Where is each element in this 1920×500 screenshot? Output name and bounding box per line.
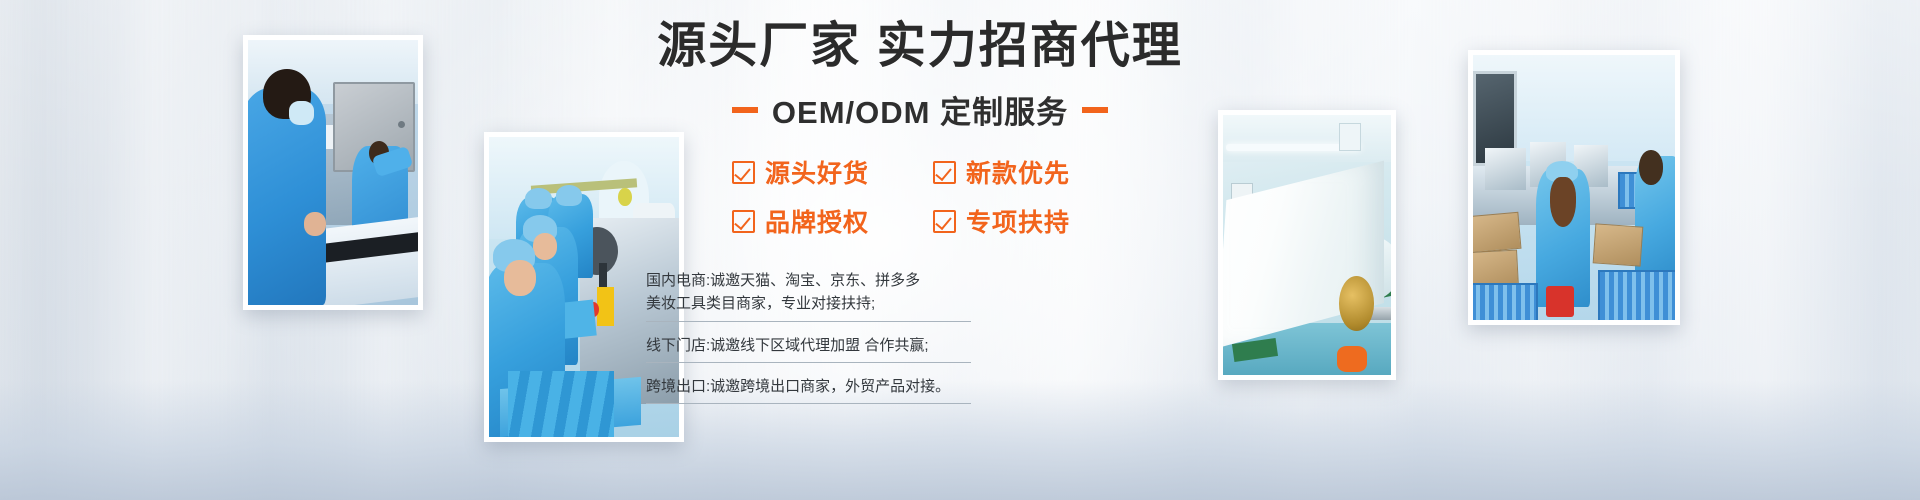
feature-item: 新款优先	[933, 154, 1108, 190]
checkbox-checked-icon	[732, 161, 755, 184]
photo-worker-machine	[243, 35, 423, 310]
dash-icon-right	[1082, 107, 1108, 113]
photo-packing-station-image	[1473, 55, 1675, 320]
detail-row: 国内电商:诚邀天猫、淘宝、京东、拼多多 美妆工具类目商家，专业对接扶持;	[646, 269, 971, 322]
page-title: 源头厂家 实力招商代理	[640, 22, 1200, 71]
feature-list: 源头好货 新款优先 品牌授权 专项扶持	[640, 154, 1200, 239]
detail-line: 国内电商:诚邀天猫、淘宝、京东、拼多多	[646, 269, 971, 292]
feature-item: 品牌授权	[732, 203, 907, 239]
banner-copy: 源头厂家 实力招商代理 OEM/ODM 定制服务 源头好货 新款优先 品牌授权 …	[640, 22, 1200, 404]
checkbox-checked-icon	[933, 161, 956, 184]
feature-item: 专项扶持	[933, 203, 1108, 239]
feature-label: 品牌授权	[765, 203, 869, 239]
detail-list: 国内电商:诚邀天猫、淘宝、京东、拼多多 美妆工具类目商家，专业对接扶持; 线下门…	[640, 269, 1200, 404]
photo-packing-station	[1468, 50, 1680, 325]
detail-row: 线下门店:诚邀线下区域代理加盟 合作共赢;	[646, 334, 971, 363]
detail-line: 跨境出口:诚邀跨境出口商家，外贸产品对接。	[646, 375, 971, 398]
promo-banner: 源头厂家 实力招商代理 OEM/ODM 定制服务 源头好货 新款优先 品牌授权 …	[0, 0, 1920, 500]
photo-fabric-roll-image	[1223, 115, 1391, 375]
detail-row: 跨境出口:诚邀跨境出口商家，外贸产品对接。	[646, 375, 971, 404]
checkbox-checked-icon	[933, 210, 956, 233]
checkbox-checked-icon	[732, 210, 755, 233]
feature-label: 新款优先	[966, 154, 1070, 190]
detail-line: 美妆工具类目商家，专业对接扶持;	[646, 292, 971, 315]
detail-line: 线下门店:诚邀线下区域代理加盟 合作共赢;	[646, 334, 971, 357]
photo-worker-machine-image	[248, 40, 418, 305]
feature-item: 源头好货	[732, 154, 907, 190]
feature-label: 源头好货	[765, 154, 869, 190]
subtitle: OEM/ODM 定制服务	[772, 87, 1068, 132]
dash-icon-left	[732, 107, 758, 113]
subtitle-row: OEM/ODM 定制服务	[640, 87, 1200, 132]
feature-label: 专项扶持	[966, 203, 1070, 239]
photo-fabric-roll	[1218, 110, 1396, 380]
